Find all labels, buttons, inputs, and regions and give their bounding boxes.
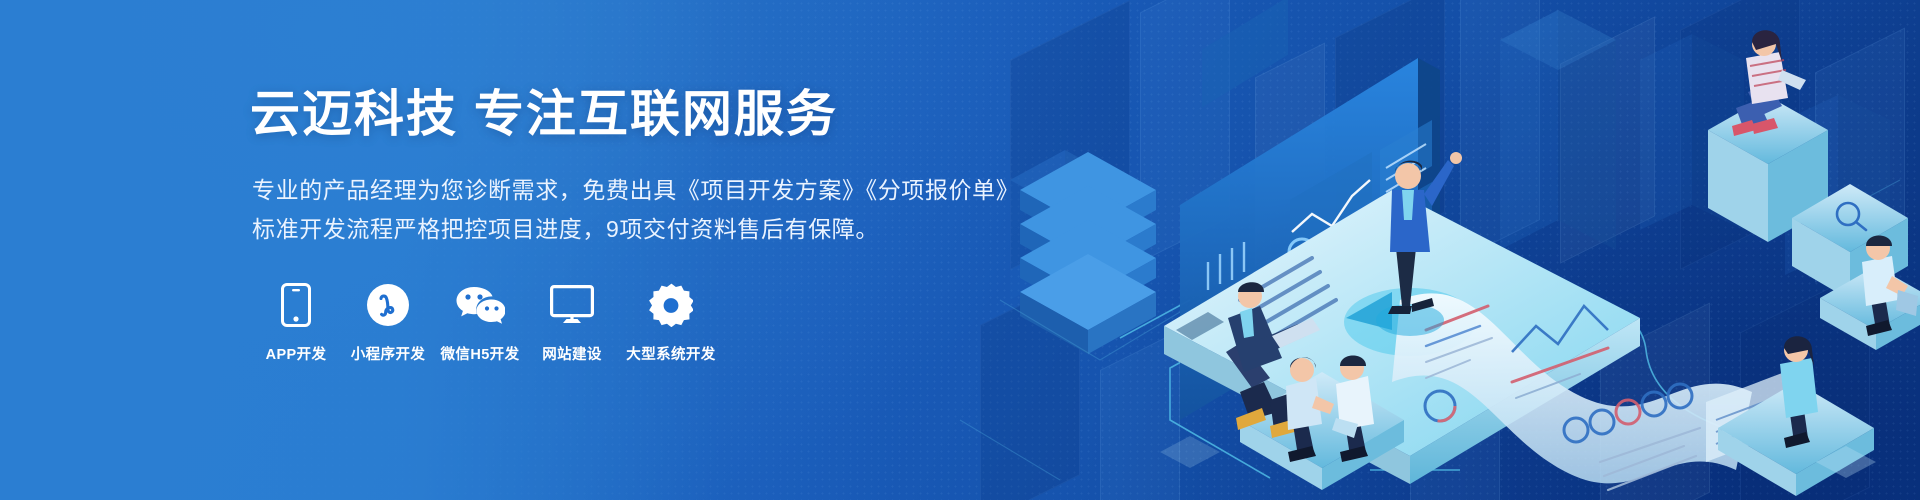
service-item-miniprogram[interactable]: 小程序开发	[342, 282, 434, 364]
wechat-icon	[455, 282, 505, 328]
hero-banner: 云迈科技 专注互联网服务 专业的产品经理为您诊断需求，免费出具《项目开发方案》《…	[0, 0, 1920, 500]
service-label: APP开发	[266, 343, 327, 364]
mobile-phone-icon	[281, 282, 311, 328]
service-label: 微信H5开发	[441, 343, 520, 364]
service-item-wechat-h5[interactable]: 微信H5开发	[434, 282, 526, 364]
service-item-large-system[interactable]: 大型系统开发	[618, 282, 724, 364]
service-label: 大型系统开发	[626, 343, 715, 364]
gear-icon	[649, 282, 693, 328]
banner-content: 云迈科技 专注互联网服务 专业的产品经理为您诊断需求，免费出具《项目开发方案》《…	[250, 0, 1120, 500]
service-label: 网站建设	[542, 343, 602, 364]
mini-program-icon	[366, 282, 410, 328]
subtitle-line-2: 标准开发流程严格把控项目进度，9项交付资料售后有保障。	[252, 211, 879, 247]
page-title: 云迈科技 专注互联网服务	[250, 86, 838, 144]
subtitle-line-1: 专业的产品经理为您诊断需求，免费出具《项目开发方案》《分项报价单》	[252, 172, 1019, 208]
service-label: 小程序开发	[351, 343, 426, 364]
service-item-app[interactable]: APP开发	[250, 282, 342, 364]
monitor-icon	[550, 282, 594, 328]
service-list: APP开发 小程序开发	[250, 282, 724, 364]
service-item-website[interactable]: 网站建设	[526, 282, 618, 364]
